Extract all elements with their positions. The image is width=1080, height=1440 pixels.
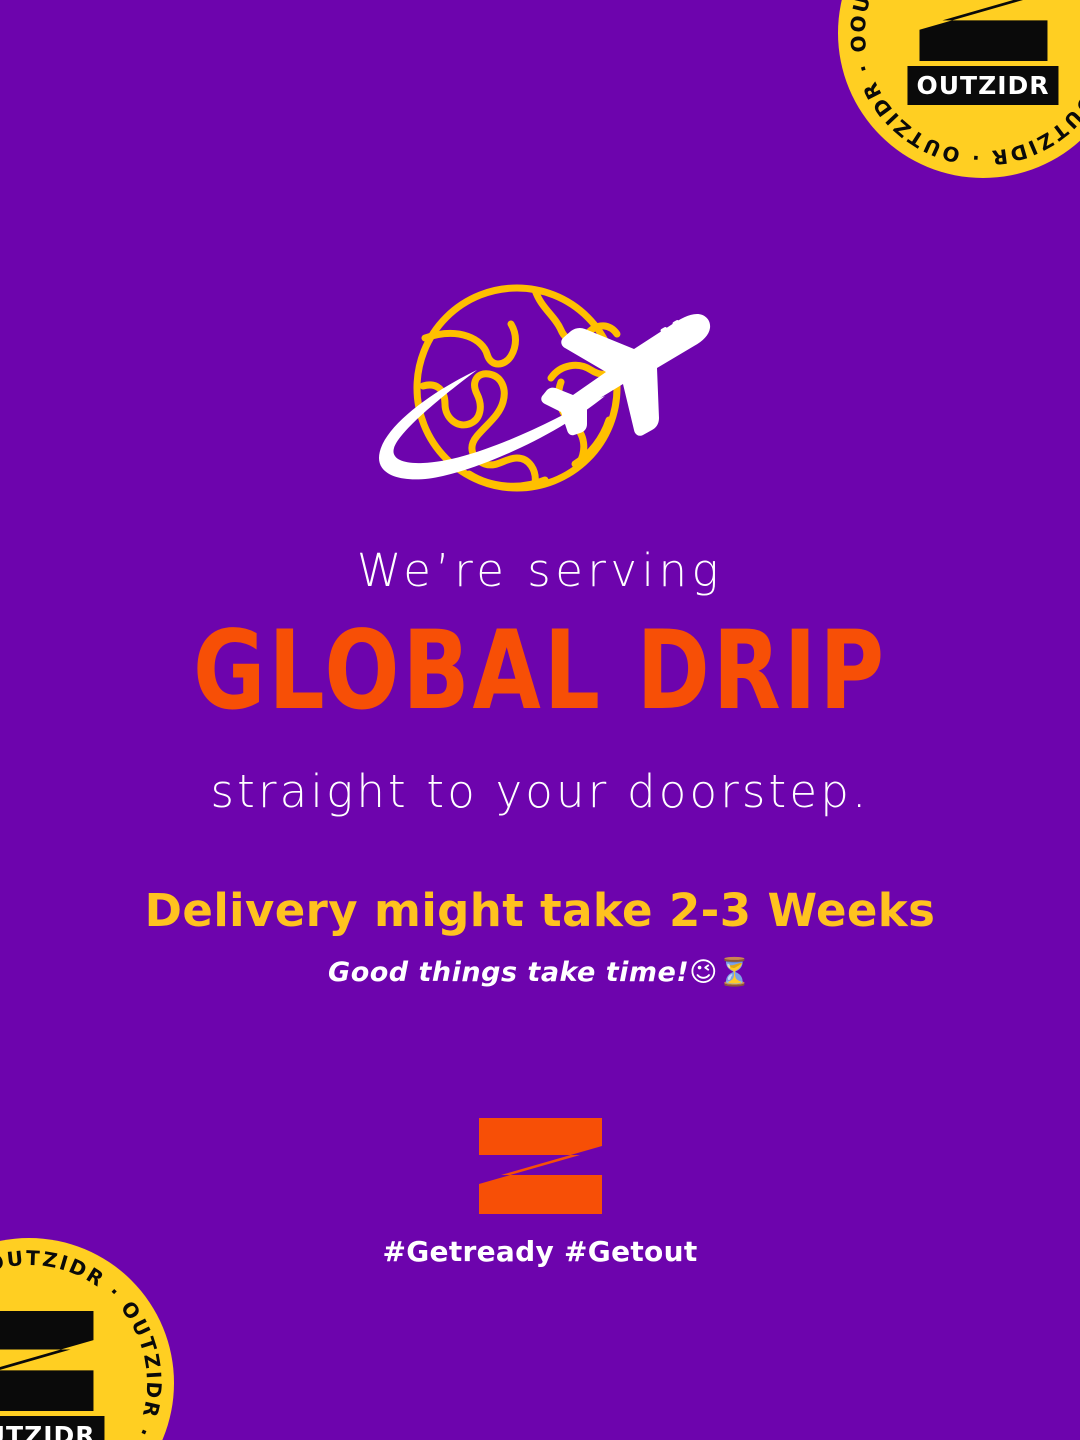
brand-logo-z-icon <box>479 1118 602 1214</box>
badge-wordmark-top: OUTZIDR <box>907 66 1058 105</box>
subhead-text: straight to your doorstep. <box>0 769 1080 814</box>
badge-wordmark-bottom: OUTZIDR <box>0 1416 105 1440</box>
eyebrow-text: We’re serving <box>0 548 1080 593</box>
hashtags-text: #Getready #Getout <box>0 1238 1080 1266</box>
promo-poster: We’re serving GLOBAL DRIP straight to yo… <box>0 0 1080 1440</box>
brand-badge-top-right: OUTZIDR · OUTZIDR · OUTZIDR · OUTZIDR · … <box>838 0 1080 178</box>
brand-badge-bottom-left: OUTZIDR · OUTZIDR · OUTZIDR · OUTZIDR · … <box>0 1238 174 1440</box>
page-title: GLOBAL DRIP <box>22 617 1059 726</box>
badge-core-top: OUTZIDR <box>907 0 1058 105</box>
wink-hourglass-emoji: 😉⏳ <box>689 957 752 988</box>
reassurance-line: Good things take time!😉⏳ <box>0 959 1080 986</box>
reassurance-text: Good things take time! <box>328 957 689 988</box>
footer-block: #Getready #Getout <box>0 1118 1080 1266</box>
globe-with-airplane-illustration <box>365 278 715 508</box>
delivery-notice: Delivery might take 2-3 Weeks <box>0 888 1080 933</box>
airplane-icon <box>541 314 710 436</box>
badge-core-bottom: OUTZIDR <box>0 1311 105 1440</box>
headline-copy-block: We’re serving GLOBAL DRIP straight to yo… <box>0 548 1080 986</box>
